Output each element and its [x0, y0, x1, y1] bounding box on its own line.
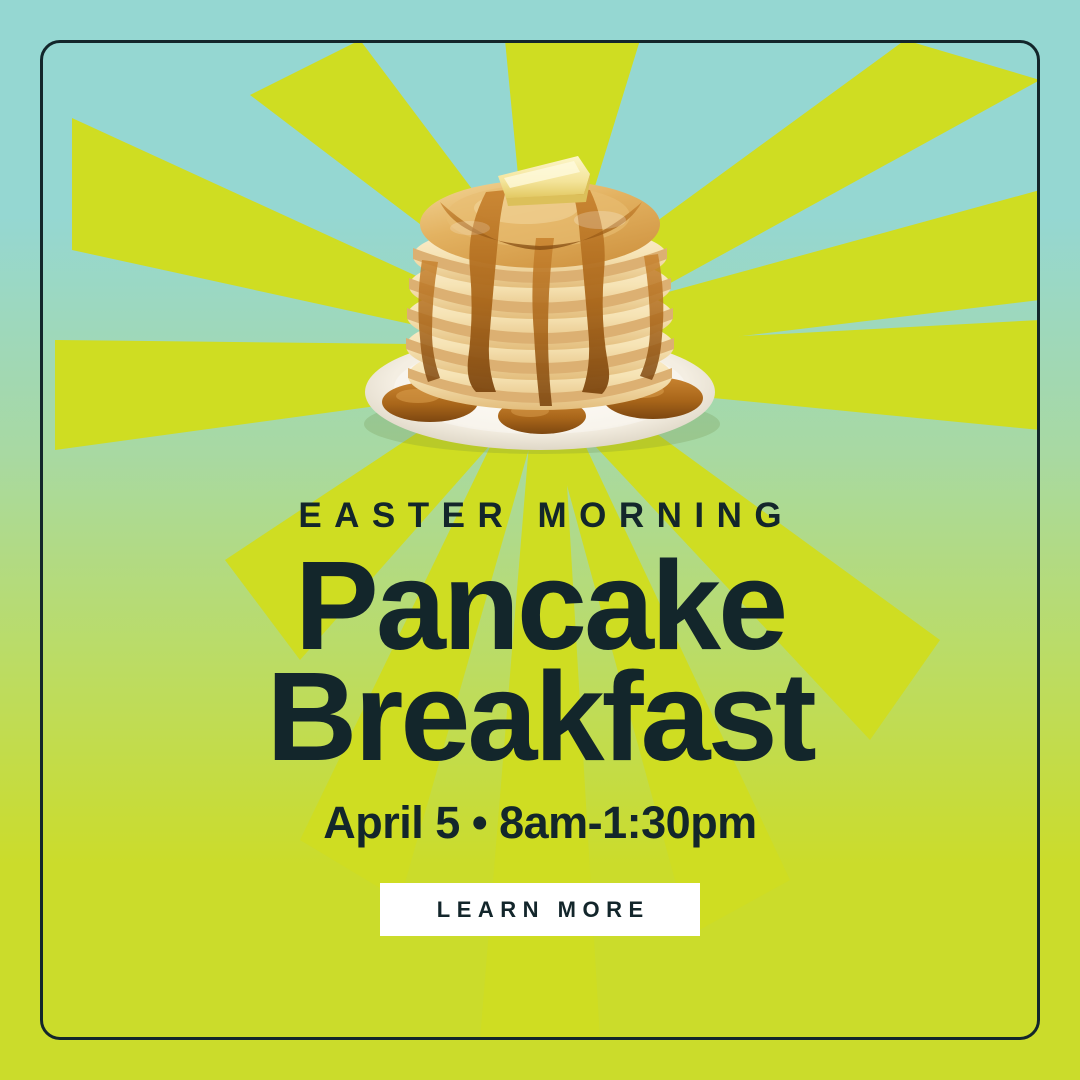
learn-more-button[interactable]: LEARN MORE: [380, 883, 700, 936]
page-title: Pancake Breakfast: [0, 551, 1080, 773]
event-date-time: April 5 • 8am-1:30pm: [0, 797, 1080, 849]
promo-poster: EASTER MORNING Pancake Breakfast April 5…: [0, 0, 1080, 1080]
learn-more-label: LEARN MORE: [430, 897, 649, 923]
headline-line-2: Breakfast: [0, 662, 1080, 773]
pancake-stack-image: [290, 120, 790, 460]
copy-block: EASTER MORNING Pancake Breakfast April 5…: [0, 498, 1080, 849]
eyebrow-text: EASTER MORNING: [0, 498, 1080, 533]
cta-container: LEARN MORE: [0, 883, 1080, 936]
